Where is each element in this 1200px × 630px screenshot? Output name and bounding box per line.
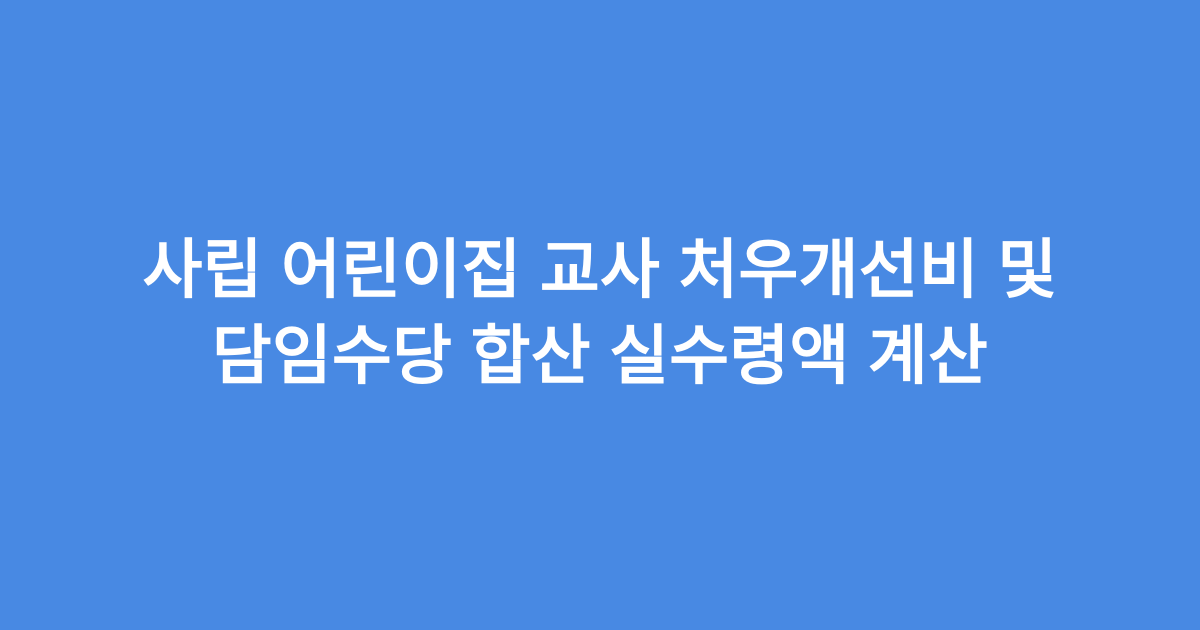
thumbnail-card: 사립 어린이집 교사 처우개선비 및 담임수당 합산 실수령액 계산 xyxy=(0,0,1200,630)
page-title: 사립 어린이집 교사 처우개선비 및 담임수당 합산 실수령액 계산 xyxy=(70,227,1130,399)
title-line-1: 사립 어린이집 교사 처우개선비 및 xyxy=(143,227,1058,313)
title-line-2: 담임수당 합산 실수령액 계산 xyxy=(212,313,988,399)
